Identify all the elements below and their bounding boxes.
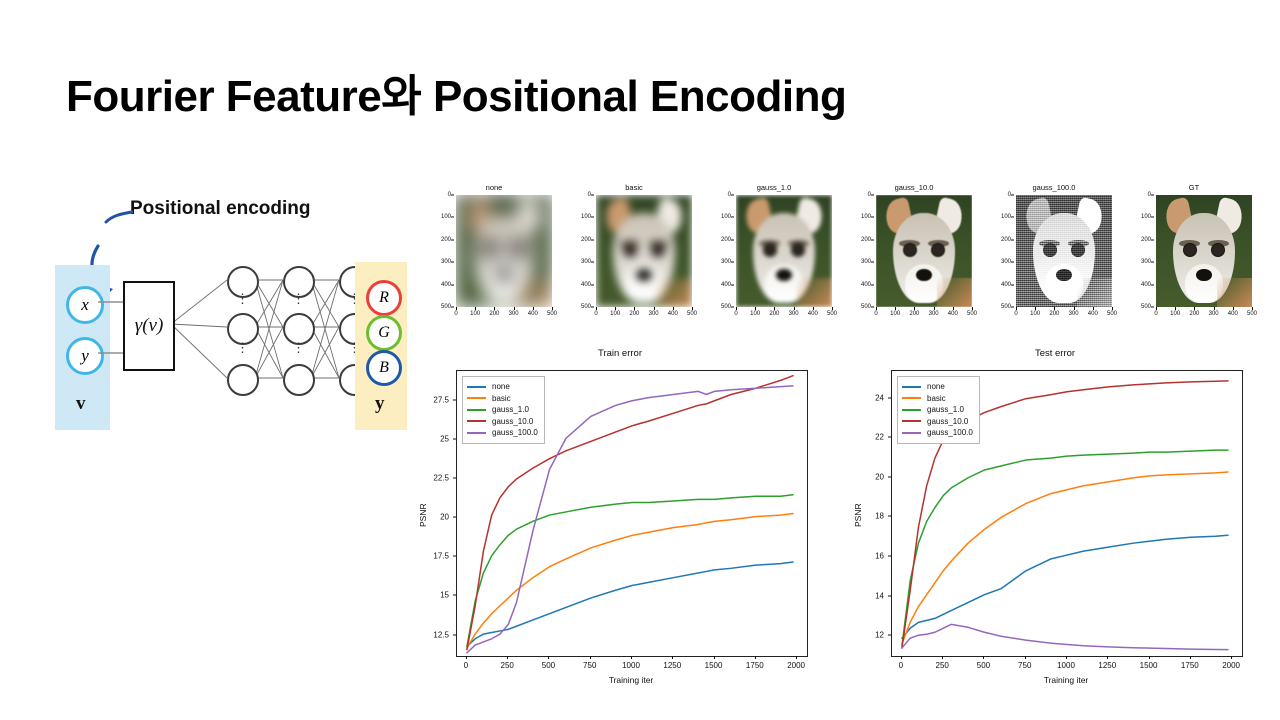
chart-x-tickmark [590,656,591,659]
image-x-tickmark [774,307,775,310]
ellipsis-l2-top: ⋮ [292,297,302,301]
image-plot-area: 01002003004005000100200300400500 [596,195,692,307]
chart-x-tick: 2000 [1222,661,1240,670]
network-diagram: Positional encoding x y v [40,180,430,450]
chart-x-tick: 750 [1018,661,1031,670]
image-x-tick: 400 [528,311,538,317]
chart-x-tick: 250 [935,661,948,670]
legend-label: basic [927,394,946,403]
image-x-tick: 500 [967,311,977,317]
legend-item-gauss-1-0[interactable]: gauss_1.0 [467,404,538,416]
image-y-tickmark [731,262,734,263]
image-x-tick: 0 [1014,311,1017,317]
image-y-tick: 400 [1141,282,1151,288]
image-x-tickmark [1252,307,1253,310]
image-y-tick: 200 [1001,237,1011,243]
image-plot-area: 01002003004005000100200300400500 [736,195,832,307]
series-line-none [902,535,1228,638]
chart-x-tickmark [714,656,715,659]
image-y-tickmark [1151,307,1154,308]
legend-label: gauss_1.0 [492,405,529,414]
chart-x-tickmark [466,656,467,659]
chart-y-tick: 12.5 [410,630,449,639]
image-panel-basic: basic01002003004005000100200300400500 [570,183,698,335]
image-y-tickmark [731,307,734,308]
output-node-r: R [366,280,402,316]
image-x-tickmark [1016,307,1017,310]
image-x-tickmark [876,307,877,310]
image-x-axis: 0100200300400500 [596,307,692,323]
image-panel-gauss-1-0: gauss_1.00100200300400500010020030040050… [710,183,838,335]
image-x-tick: 100 [750,311,760,317]
image-y-tickmark [451,307,454,308]
image-x-tick: 100 [470,311,480,317]
image-y-axis: 0100200300400500 [432,195,454,307]
chart-title: Train error [410,348,830,359]
image-x-tick: 400 [1088,311,1098,317]
output-vector-label: y [375,393,385,415]
chart-x-tickmark [901,656,902,659]
legend-label: gauss_1.0 [927,405,964,414]
image-y-tickmark [1151,284,1154,285]
image-y-tickmark [451,217,454,218]
image-x-tick: 0 [454,311,457,317]
chart-x-tick: 1500 [705,661,723,670]
image-x-tickmark [1214,307,1215,310]
image-x-tickmark [1074,307,1075,310]
series-line-gauss-100-0 [902,624,1228,649]
chart-x-tick: 0 [464,661,468,670]
image-x-tickmark [1194,307,1195,310]
chart-y-tick: 12 [845,631,884,640]
image-y-tickmark [591,307,594,308]
image-x-tickmark [494,307,495,310]
image-x-tick: 200 [629,311,639,317]
chart-y-tick: 18 [845,512,884,521]
image-y-tickmark [871,284,874,285]
image-x-tickmark [1233,307,1234,310]
chart-y-tickmark [888,556,891,557]
positional-encoding-box: γ(v) [123,281,175,371]
chart-x-tick: 750 [583,661,596,670]
series-line-gauss-1-0 [902,450,1228,646]
image-panel-gauss-10-0: gauss_10.0010020030040050001002003004005… [850,183,978,335]
slide-root: Fourier Feature와 Positional Encoding Pos… [0,0,1280,720]
chart-x-tickmark [1107,656,1108,659]
image-x-tick: 200 [769,311,779,317]
image-y-tickmark [1151,239,1154,240]
image-y-tickmark [731,195,734,196]
image-panel-title: gauss_1.0 [710,183,838,192]
legend-color-swatch [902,409,921,411]
train-error-chart: Train error12.51517.52022.52527.50250500… [410,348,830,708]
image-x-axis: 0100200300400500 [456,307,552,323]
chart-x-tickmark [507,656,508,659]
image-x-tickmark [615,307,616,310]
image-y-tickmark [731,217,734,218]
image-comparison-strip: none01002003004005000100200300400500basi… [430,183,1270,335]
image-x-tick: 300 [649,311,659,317]
image-y-tick: 200 [581,237,591,243]
chart-x-tick: 0 [899,661,903,670]
legend-label: none [927,382,945,391]
image-y-axis: 0100200300400500 [1132,195,1154,307]
y-axis-label: PSNR [853,503,863,527]
image-x-tick: 400 [948,311,958,317]
image-y-tick: 100 [721,214,731,220]
image-y-tick: 300 [861,259,871,265]
chart-x-tickmark [1149,656,1150,659]
image-y-tickmark [871,217,874,218]
chart-x-tickmark [983,656,984,659]
chart-x-tickmark [1066,656,1067,659]
image-x-tick: 200 [1049,311,1059,317]
legend-item-gauss-10-0[interactable]: gauss_10.0 [902,416,973,428]
noise-overlay [1016,195,1112,307]
chart-y-tickmark [453,478,456,479]
image-y-axis: 0100200300400500 [712,195,734,307]
chart-x-tickmark [942,656,943,659]
image-x-tickmark [1035,307,1036,310]
legend-item-none[interactable]: none [902,381,973,393]
legend-color-swatch [467,432,486,434]
image-x-tick: 100 [890,311,900,317]
image-y-tickmark [871,262,874,263]
legend-item-gauss-1-0[interactable]: gauss_1.0 [902,404,973,416]
image-y-tickmark [731,284,734,285]
chart-x-tickmark [631,656,632,659]
image-y-tick: 500 [1001,304,1011,310]
image-x-tick: 400 [808,311,818,317]
ellipsis-l1-top: ⋮ [236,297,246,301]
image-plot-area: 01002003004005000100200300400500 [456,195,552,307]
image-y-tickmark [451,262,454,263]
image-x-tickmark [755,307,756,310]
legend-color-swatch [902,386,921,388]
image-x-tick: 500 [827,311,837,317]
chart-x-tick: 1250 [663,661,681,670]
chart-x-tick: 1000 [1057,661,1075,670]
image-x-tick: 500 [1107,311,1117,317]
image-y-tickmark [1011,262,1014,263]
image-panel-title: gauss_100.0 [990,183,1118,192]
chart-y-tickmark [888,635,891,636]
fox-image [456,195,552,307]
image-x-axis: 0100200300400500 [736,307,832,323]
image-plot-area: 01002003004005000100200300400500 [1016,195,1112,307]
image-y-tick: 200 [441,237,451,243]
image-x-tickmark [1156,307,1157,310]
chart-y-tick: 22.5 [410,474,449,483]
ellipsis-l1-bot: ⋮ [236,346,246,350]
image-x-tick: 500 [547,311,557,317]
image-x-tickmark [692,307,693,310]
chart-x-tickmark [1190,656,1191,659]
image-y-tickmark [1011,284,1014,285]
fox-image [736,195,832,307]
image-x-tick: 100 [1170,311,1180,317]
chart-x-tick: 2000 [787,661,805,670]
image-y-tick: 300 [1141,259,1151,265]
image-y-tickmark [1011,195,1014,196]
image-y-tickmark [1011,217,1014,218]
hidden-node-l1-3 [227,364,259,396]
image-x-tickmark [736,307,737,310]
image-x-tickmark [533,307,534,310]
chart-y-tick: 22 [845,433,884,442]
image-x-tickmark [813,307,814,310]
image-y-tickmark [451,284,454,285]
image-y-tickmark [591,195,594,196]
image-x-tick: 300 [929,311,939,317]
image-x-tickmark [1112,307,1113,310]
image-y-tickmark [591,217,594,218]
image-x-tickmark [934,307,935,310]
image-y-tick: 200 [1141,237,1151,243]
image-x-tick: 200 [489,311,499,317]
legend-color-swatch [467,386,486,388]
image-y-tickmark [451,195,454,196]
chart-x-tickmark [672,656,673,659]
image-plot-area: 01002003004005000100200300400500 [1156,195,1252,307]
legend-color-swatch [902,397,921,399]
legend-item-gauss-10-0[interactable]: gauss_10.0 [467,416,538,428]
image-y-tick: 500 [581,304,591,310]
image-y-tick: 100 [581,214,591,220]
image-y-tick: 400 [721,282,731,288]
image-x-tick: 100 [610,311,620,317]
chart-y-tickmark [888,476,891,477]
legend-label: gauss_10.0 [927,417,968,426]
output-node-b: B [366,350,402,386]
image-x-tickmark [914,307,915,310]
image-y-tick: 400 [1001,282,1011,288]
image-x-tick: 400 [668,311,678,317]
legend-item-basic[interactable]: basic [902,393,973,405]
image-y-tickmark [591,239,594,240]
chart-y-tickmark [453,634,456,635]
page-title: Fourier Feature와 Positional Encoding [66,60,846,124]
hidden-node-l2-3 [283,364,315,396]
legend-item-basic[interactable]: basic [467,393,538,405]
image-panel-gauss-100-0: gauss_100.001002003004005000100200300400… [990,183,1118,335]
image-x-tickmark [832,307,833,310]
image-panel-title: basic [570,183,698,192]
image-x-tick: 0 [594,311,597,317]
image-x-tick: 200 [909,311,919,317]
image-y-tick: 100 [861,214,871,220]
image-y-tickmark [591,284,594,285]
image-y-tick: 500 [1141,304,1151,310]
chart-x-tick: 1000 [622,661,640,670]
fox-image [1016,195,1112,307]
chart-y-tickmark [888,595,891,596]
image-y-tickmark [451,239,454,240]
chart-y-tick: 25 [410,434,449,443]
fox-image [876,195,972,307]
image-y-tickmark [591,262,594,263]
test-error-chart: Test error121416182022240250500750100012… [845,348,1265,708]
legend-label: gauss_100.0 [927,428,973,437]
image-x-tickmark [953,307,954,310]
image-y-tick: 400 [581,282,591,288]
chart-legend: nonebasicgauss_1.0gauss_10.0gauss_100.0 [897,376,980,444]
image-panel-GT: GT01002003004005000100200300400500 [1130,183,1258,335]
chart-y-tick: 20 [410,513,449,522]
image-y-tick: 500 [861,304,871,310]
chart-x-tickmark [796,656,797,659]
x-axis-label: Training iter [456,675,806,685]
chart-y-tick: 24 [845,393,884,402]
legend-label: gauss_100.0 [492,428,538,437]
chart-x-tickmark [548,656,549,659]
legend-item-none[interactable]: none [467,381,538,393]
chart-x-tickmark [1231,656,1232,659]
chart-y-tickmark [453,517,456,518]
chart-y-tick: 27.5 [410,395,449,404]
image-panel-title: GT [1130,183,1258,192]
image-x-axis: 0100200300400500 [1156,307,1252,323]
legend-color-swatch [467,409,486,411]
image-x-tickmark [552,307,553,310]
image-y-tick: 400 [861,282,871,288]
image-x-tick: 300 [509,311,519,317]
chart-y-tickmark [888,437,891,438]
legend-color-swatch [467,420,486,422]
image-y-tick: 200 [861,237,871,243]
image-y-tick: 500 [721,304,731,310]
legend-label: gauss_10.0 [492,417,533,426]
chart-y-tickmark [888,397,891,398]
image-y-tickmark [871,307,874,308]
image-x-axis: 0100200300400500 [876,307,972,323]
image-y-tickmark [1151,195,1154,196]
chart-x-tick: 250 [500,661,513,670]
chart-x-tick: 500 [542,661,555,670]
image-x-tick: 500 [687,311,697,317]
image-x-tickmark [596,307,597,310]
image-x-tick: 300 [1209,311,1219,317]
chart-title: Test error [845,348,1265,359]
chart-y-tickmark [453,595,456,596]
image-y-tickmark [1011,239,1014,240]
image-y-tick: 300 [441,259,451,265]
image-x-tickmark [456,307,457,310]
series-line-basic [902,472,1228,644]
image-x-tick: 200 [1189,311,1199,317]
image-y-tickmark [1151,217,1154,218]
image-y-tickmark [871,239,874,240]
series-line-basic [467,514,793,649]
chart-x-tick: 1750 [746,661,764,670]
image-y-tick: 300 [581,259,591,265]
image-y-tickmark [1011,307,1014,308]
chart-y-tick: 16 [845,552,884,561]
image-y-tickmark [731,239,734,240]
image-x-tick: 0 [1154,311,1157,317]
chart-y-tickmark [453,556,456,557]
chart-x-tick: 1250 [1098,661,1116,670]
image-x-tick: 300 [1069,311,1079,317]
chart-x-tick: 1500 [1140,661,1158,670]
legend-color-swatch [902,420,921,422]
legend-color-swatch [902,432,921,434]
image-x-tickmark [794,307,795,310]
chart-x-tickmark [1025,656,1026,659]
ellipsis-l2-bot: ⋮ [292,346,302,350]
image-panel-title: gauss_10.0 [850,183,978,192]
legend-color-swatch [467,397,486,399]
image-y-tick: 100 [1001,214,1011,220]
chart-y-tickmark [453,399,456,400]
chart-x-tick: 1750 [1181,661,1199,670]
image-y-tick: 100 [441,214,451,220]
legend-item-gauss-100-0[interactable]: gauss_100.0 [467,427,538,439]
image-y-axis: 0100200300400500 [572,195,594,307]
legend-label: basic [492,394,511,403]
chart-x-tick: 500 [977,661,990,670]
x-axis-label: Training iter [891,675,1241,685]
image-y-tickmark [1151,262,1154,263]
fox-image [1156,195,1252,307]
image-x-tick: 300 [789,311,799,317]
chart-legend: nonebasicgauss_1.0gauss_10.0gauss_100.0 [462,376,545,444]
image-x-tickmark [475,307,476,310]
image-x-tick: 500 [1247,311,1257,317]
image-y-axis: 0100200300400500 [852,195,874,307]
image-x-tickmark [1093,307,1094,310]
image-x-tickmark [673,307,674,310]
image-y-tick: 400 [441,282,451,288]
image-x-tickmark [895,307,896,310]
image-panel-none: none01002003004005000100200300400500 [430,183,558,335]
image-x-tick: 400 [1228,311,1238,317]
image-y-tick: 300 [721,259,731,265]
image-plot-area: 01002003004005000100200300400500 [876,195,972,307]
chart-y-tick: 14 [845,591,884,600]
image-panel-title: none [430,183,558,192]
image-x-tickmark [634,307,635,310]
legend-label: none [492,382,510,391]
image-x-tickmark [1175,307,1176,310]
image-x-tickmark [514,307,515,310]
image-x-tick: 100 [1030,311,1040,317]
legend-item-gauss-100-0[interactable]: gauss_100.0 [902,427,973,439]
chart-y-tickmark [453,438,456,439]
chart-y-tick: 15 [410,591,449,600]
image-y-tick: 500 [441,304,451,310]
output-node-g: G [366,315,402,351]
y-axis-label: PSNR [418,503,428,527]
image-x-tickmark [1054,307,1055,310]
image-x-tickmark [654,307,655,310]
image-x-tickmark [972,307,973,310]
image-y-tickmark [871,195,874,196]
image-y-tick: 300 [1001,259,1011,265]
image-x-tick: 0 [734,311,737,317]
chart-y-tickmark [888,516,891,517]
chart-y-tick: 20 [845,472,884,481]
image-y-tick: 200 [721,237,731,243]
image-y-tick: 100 [1141,214,1151,220]
image-x-axis: 0100200300400500 [1016,307,1112,323]
image-x-tick: 0 [874,311,877,317]
fox-image [596,195,692,307]
chart-x-tickmark [755,656,756,659]
chart-y-tick: 17.5 [410,552,449,561]
image-y-axis: 0100200300400500 [992,195,1014,307]
